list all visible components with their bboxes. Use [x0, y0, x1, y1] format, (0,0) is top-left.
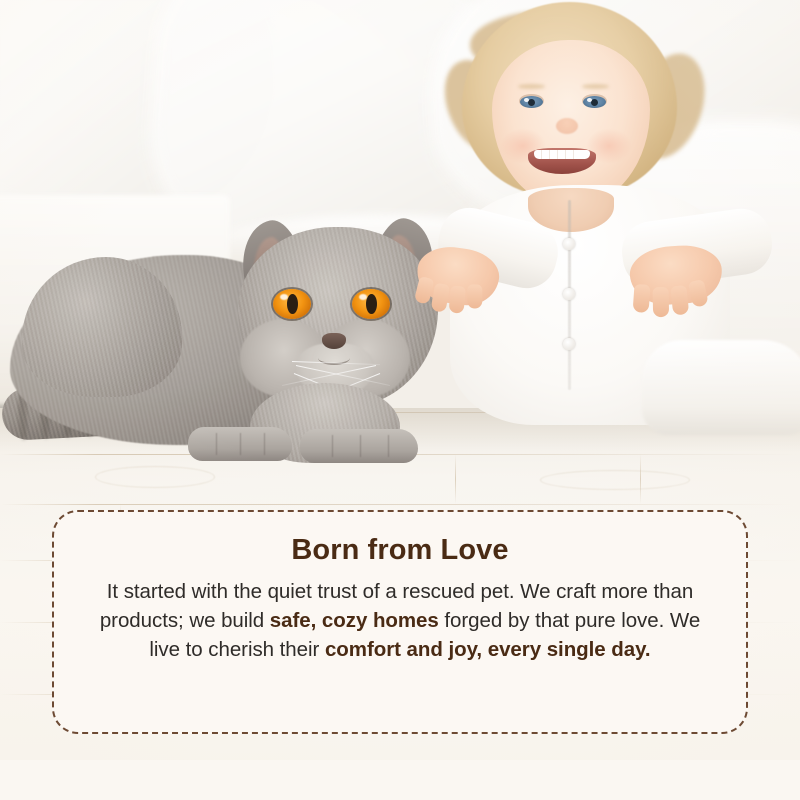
baby-eye-right	[583, 96, 606, 108]
baby-eyebrow-left	[518, 84, 545, 89]
promo-graphic: Born from Love It started with the quiet…	[0, 0, 800, 800]
cat-eye-left	[273, 289, 311, 319]
cat-paw-right	[300, 429, 418, 463]
baby	[420, 0, 800, 480]
baby-eye-left	[520, 96, 543, 108]
baby-nose	[556, 118, 578, 134]
baby-teeth	[534, 150, 590, 159]
card-body: It started with the quiet trust of a res…	[88, 577, 712, 664]
cat-haunch	[22, 257, 182, 397]
card-body-emphasis: comfort and joy, every single day.	[325, 638, 651, 661]
card-body-emphasis: safe, cozy homes	[270, 609, 439, 632]
story-card: Born from Love It started with the quiet…	[52, 510, 748, 734]
cat-paw-left	[188, 427, 292, 461]
baby-leg	[642, 340, 800, 435]
baby-eyebrow-right	[582, 84, 609, 89]
cat	[0, 215, 470, 480]
card-title: Born from Love	[88, 534, 712, 567]
cat-eye-right	[352, 289, 390, 319]
